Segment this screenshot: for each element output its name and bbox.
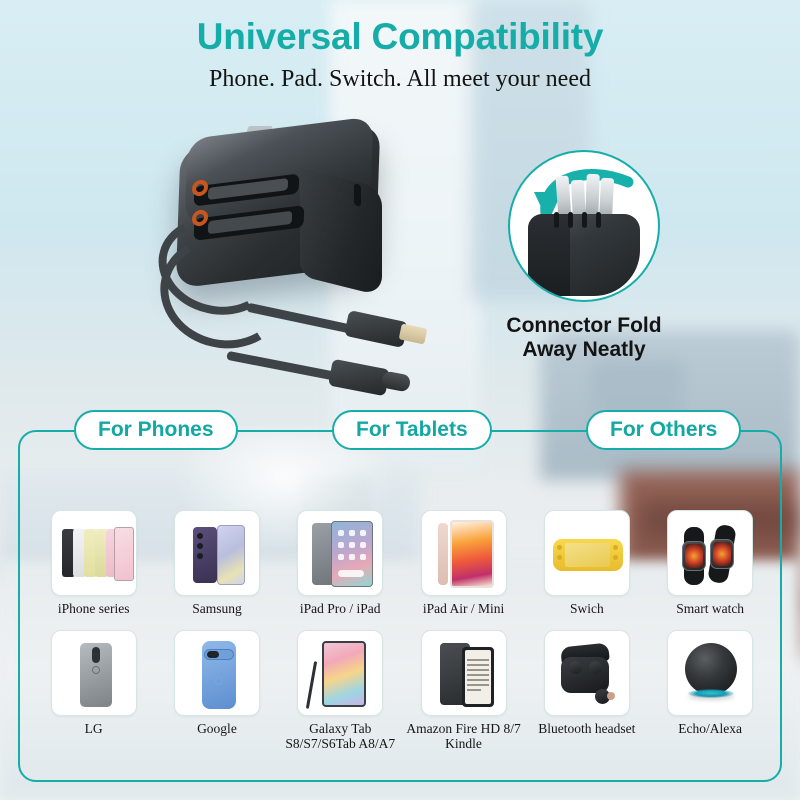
- page-title: Universal Compatibility: [0, 16, 800, 58]
- usbc-connector-housing: [328, 359, 390, 397]
- device-label: Galaxy Tab S8/S7/S6Tab A8/A7: [279, 721, 402, 751]
- device-cell-lg[interactable]: LG: [32, 630, 155, 751]
- callout-circle: [508, 150, 660, 302]
- device-label: Smart watch: [648, 601, 771, 616]
- samsung-phone-icon: [174, 510, 260, 596]
- cable-lead-usbc: [226, 351, 344, 382]
- page-subtitle: Phone. Pad. Switch. All meet your need: [0, 66, 800, 93]
- iphone-series-icon: [51, 510, 137, 596]
- callout-line-1: Connector Fold: [484, 314, 684, 338]
- device-cell-iphone[interactable]: iPhone series: [32, 510, 155, 616]
- device-label: Echo/Alexa: [648, 721, 771, 736]
- smart-watch-icon: [667, 510, 753, 596]
- device-cell-bluetooth-headset[interactable]: Bluetooth headset: [525, 630, 648, 751]
- connector-fold-callout: Connector Fold Away Neatly: [484, 150, 684, 362]
- prong-slot-1: [554, 212, 559, 228]
- kindle-icon: [421, 630, 507, 716]
- device-cell-galaxy-tab[interactable]: Galaxy Tab S8/S7/S6Tab A8/A7: [279, 630, 402, 751]
- device-cell-google[interactable]: Google: [155, 630, 278, 751]
- google-pixel-icon: [174, 630, 260, 716]
- compatibility-panel: For Phones For Tablets For Others iPhone…: [18, 430, 782, 782]
- ipad-air-icon: [421, 510, 507, 596]
- device-label: iPad Pro / iPad: [279, 601, 402, 616]
- charger-side-face: [300, 168, 382, 296]
- device-label: Samsung: [155, 601, 278, 616]
- prong-slot-3: [582, 212, 587, 228]
- device-row: LG Google Galaxy Tab S8/S7/S6Tab A8/A7: [32, 630, 772, 751]
- device-label: iPad Air / Mini: [402, 601, 525, 616]
- device-label: Google: [155, 721, 278, 736]
- device-label: Swich: [525, 601, 648, 616]
- device-cell-smart-watch[interactable]: Smart watch: [648, 510, 771, 616]
- galaxy-tab-icon: [297, 630, 383, 716]
- ipad-pro-icon: [297, 510, 383, 596]
- earbuds-icon: [544, 630, 630, 716]
- device-cell-ipad-pro[interactable]: iPad Pro / iPad: [279, 510, 402, 616]
- header: Universal Compatibility Phone. Pad. Swit…: [0, 0, 800, 93]
- device-label: Bluetooth headset: [525, 721, 648, 736]
- prong-slot-2: [568, 212, 573, 228]
- nintendo-switch-icon: [544, 510, 630, 596]
- callout-charger-side: [528, 214, 570, 296]
- device-label: LG: [32, 721, 155, 736]
- callout-line-2: Away Neatly: [484, 338, 684, 362]
- device-cell-kindle[interactable]: Amazon Fire HD 8/7 Kindle: [402, 630, 525, 751]
- device-cell-ipad-air[interactable]: iPad Air / Mini: [402, 510, 525, 616]
- device-cell-echo[interactable]: Echo/Alexa: [648, 630, 771, 751]
- hero-product-image: [150, 118, 450, 418]
- lg-phone-icon: [51, 630, 137, 716]
- prong-slot-4: [596, 212, 601, 228]
- echo-speaker-icon: [667, 630, 753, 716]
- device-label: iPhone series: [32, 601, 155, 616]
- badge-for-others[interactable]: For Others: [586, 410, 741, 450]
- callout-caption: Connector Fold Away Neatly: [484, 314, 684, 362]
- badge-for-tablets[interactable]: For Tablets: [332, 410, 492, 450]
- badge-for-phones[interactable]: For Phones: [74, 410, 238, 450]
- device-label: Amazon Fire HD 8/7 Kindle: [402, 721, 525, 751]
- device-grid: iPhone series Samsung: [32, 510, 772, 751]
- device-cell-samsung[interactable]: Samsung: [155, 510, 278, 616]
- lightning-connector-housing: [344, 310, 408, 348]
- charger-usbc-port: [354, 183, 361, 207]
- device-cell-switch[interactable]: Swich: [525, 510, 648, 616]
- device-row: iPhone series Samsung: [32, 510, 772, 616]
